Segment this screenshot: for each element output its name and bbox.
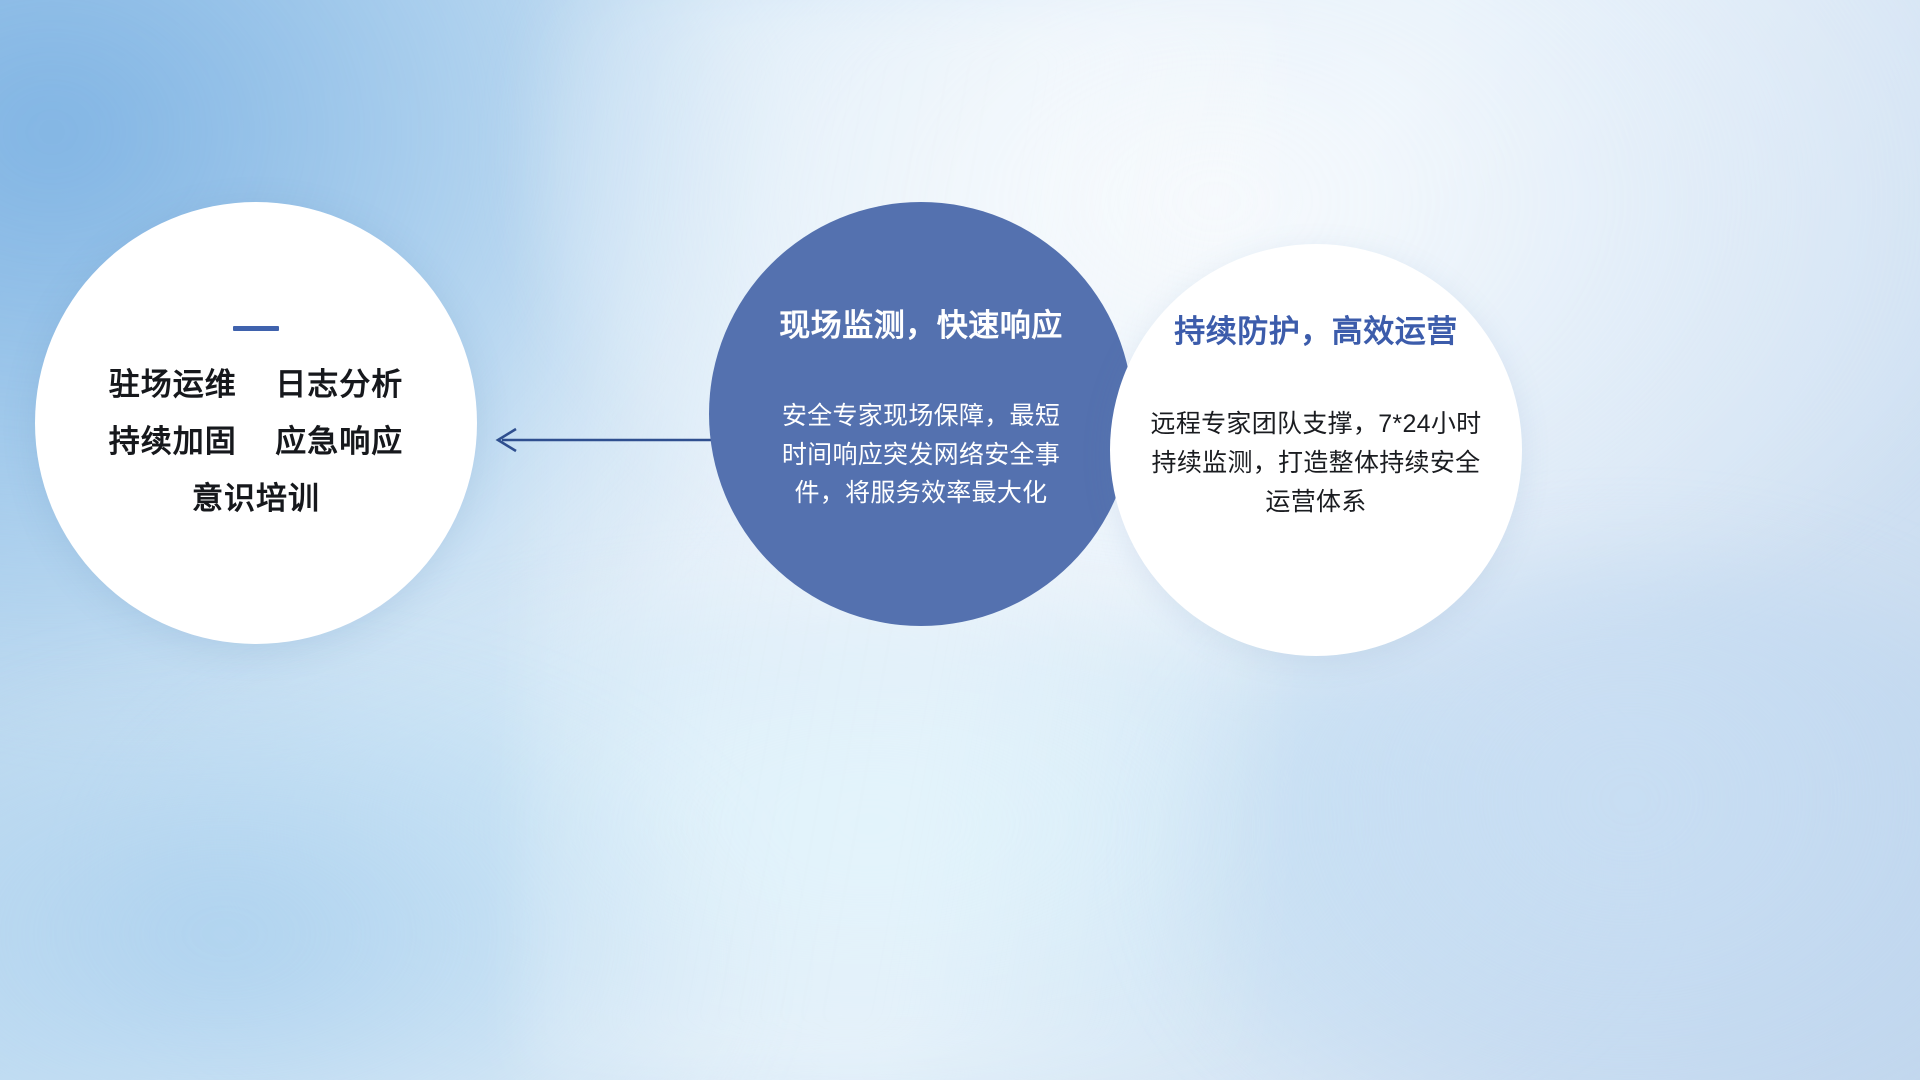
arrow-left-icon [488, 418, 714, 462]
capability-line-3: 意识培训 [109, 483, 403, 514]
onsite-monitoring-circle[interactable]: 现场监测，快速响应 安全专家现场保障，最短时间响应突发网络安全事件，将服务效率最… [709, 202, 1133, 626]
continuous-protection-title: 持续防护，高效运营 [1174, 306, 1458, 351]
capability-circle-left[interactable]: 驻场运维 日志分析 持续加固 应急响应 意识培训 [35, 202, 477, 644]
continuous-protection-body: 远程专家团队支撑，7*24小时持续监测，打造整体持续安全运营体系 [1141, 405, 1491, 522]
capability-list: 驻场运维 日志分析 持续加固 应急响应 意识培训 [109, 369, 403, 514]
capability-line-1: 驻场运维 日志分析 [109, 369, 403, 400]
onsite-monitoring-title: 现场监测，快速响应 [779, 300, 1063, 345]
onsite-monitoring-body: 安全专家现场保障，最短时间响应突发网络安全事件，将服务效率最大化 [777, 397, 1065, 513]
slide-canvas: 驻场运维 日志分析 持续加固 应急响应 意识培训 现场监测，快速响应 安全专家现… [0, 0, 1920, 1080]
capability-line-2: 持续加固 应急响应 [109, 426, 403, 457]
continuous-protection-circle[interactable]: 持续防护，高效运营 远程专家团队支撑，7*24小时持续监测，打造整体持续安全运营… [1110, 244, 1522, 656]
accent-dash-icon [233, 326, 279, 331]
